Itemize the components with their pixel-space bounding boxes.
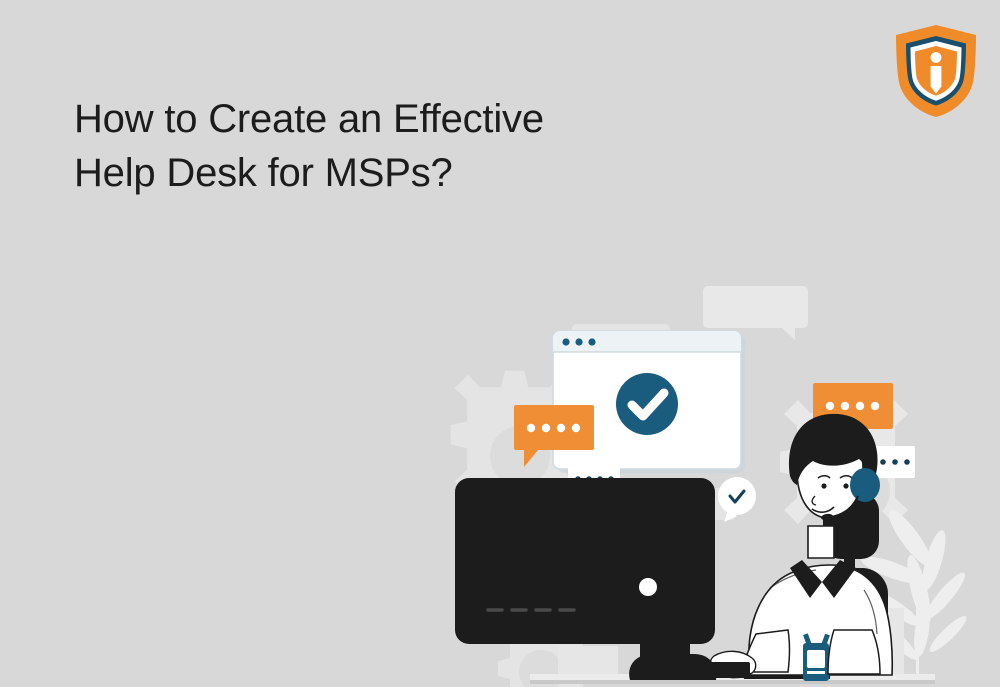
check-circle-icon — [616, 373, 678, 435]
agent-eye-left — [821, 483, 826, 488]
monitor-panel — [455, 478, 715, 644]
agent-neck — [808, 526, 834, 558]
banner-root: How to Create an Effective Help Desk for… — [0, 0, 1000, 687]
agent-arm-right — [828, 630, 880, 674]
agent-eye-right — [843, 483, 848, 488]
keyboard[interactable] — [668, 662, 750, 678]
shield-i-logo[interactable] — [890, 22, 982, 120]
page-title: How to Create an Effective Help Desk for… — [74, 92, 634, 200]
browser-window[interactable] — [553, 331, 745, 473]
browser-titlebar-dots[interactable] — [562, 338, 595, 345]
help-desk-support-agent-illustration — [440, 238, 1000, 687]
headset-earpiece — [850, 468, 880, 502]
monitor-power-button — [639, 578, 657, 596]
logo-letter-i-dot — [931, 52, 942, 63]
success-check-badge — [616, 373, 678, 435]
